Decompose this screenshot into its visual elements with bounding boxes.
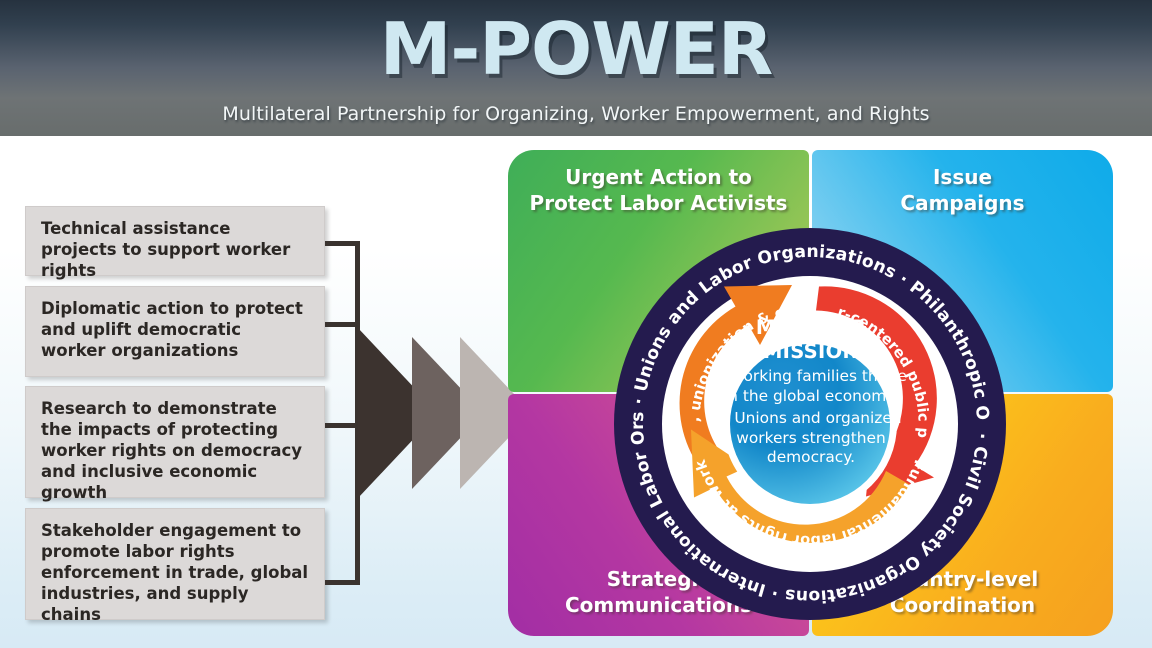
connector-stub-3 (325, 423, 358, 428)
mission-title-line2: MISSION (706, 340, 916, 364)
activity-box-diplomatic-action[interactable]: Diplomatic action to protect and uplift … (25, 286, 325, 377)
mission-bullet-2: • Unions and organized workers strengthe… (706, 409, 916, 468)
activity-box-stakeholder-engagement[interactable]: Stakeholder engagement to promote labor … (25, 508, 325, 620)
quadrant-label-issue-campaigns: IssueCampaigns (812, 164, 1113, 216)
page-title: M-POWER (0, 10, 1152, 88)
activity-box-research[interactable]: Research to demonstrate the impacts of p… (25, 386, 325, 498)
page-subtitle: Multilateral Partnership for Organizing,… (0, 103, 1152, 125)
infographic-canvas: M-POWER Multilateral Partnership for Org… (0, 0, 1152, 648)
mission-bullet-1: • Working families thrive in the global … (706, 367, 916, 406)
connector-stub-2 (325, 322, 358, 327)
mission-title-line1: M-POWER (706, 316, 916, 340)
activity-box-technical-assistance[interactable]: Technical assistance projects to support… (25, 206, 325, 276)
connector-stub-1 (325, 241, 358, 246)
mission-text-block: M-POWER MISSION • Working families thriv… (706, 316, 916, 468)
connector-stub-4 (325, 580, 358, 585)
quadrant-label-urgent-action: Urgent Action toProtect Labor Activists (508, 164, 809, 216)
